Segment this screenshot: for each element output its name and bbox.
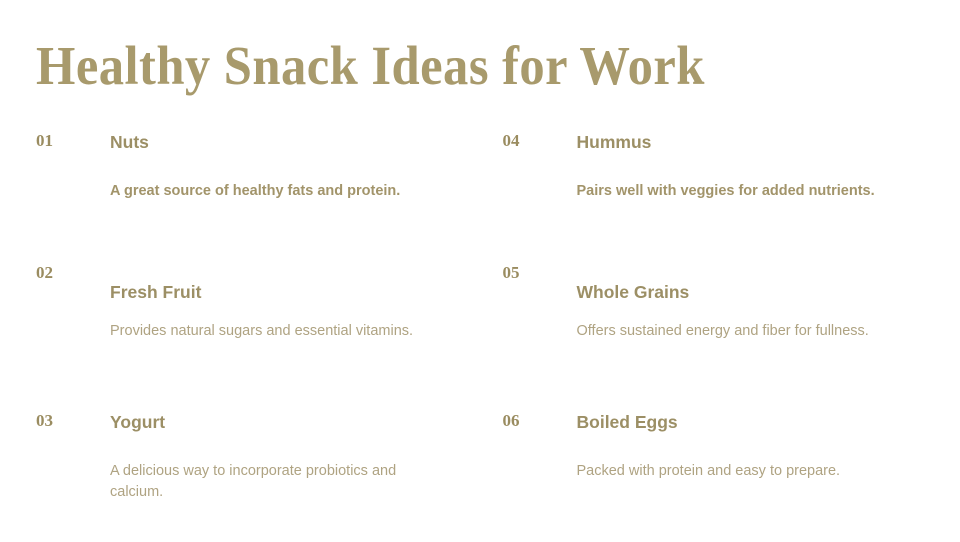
list-item-description: Provides natural sugars and essential vi…	[110, 303, 450, 342]
list-item[interactable]: 05 Whole Grains Offers sustained energy …	[503, 262, 960, 402]
list-item-number: 01	[36, 131, 102, 151]
list-column-left: 03 Yogurt A delicious way to incorporate…	[0, 402, 494, 542]
list-item-description: Pairs well with veggies for added nutrie…	[577, 153, 917, 202]
list-item-number: 04	[503, 131, 569, 151]
list-item-number: 02	[36, 263, 102, 283]
list-item-body: Yogurt A delicious way to incorporate pr…	[110, 402, 470, 503]
list-item-body: Nuts A great source of healthy fats and …	[110, 122, 470, 202]
list-column-left: 01 Nuts A great source of healthy fats a…	[0, 122, 494, 262]
list-item-body: Fresh Fruit Provides natural sugars and …	[110, 262, 470, 342]
list-item-description: Offers sustained energy and fiber for fu…	[577, 303, 917, 342]
list-item-body: Whole Grains Offers sustained energy and…	[577, 262, 937, 342]
page-title: Healthy Snack Ideas for Work	[36, 33, 705, 99]
list-item[interactable]: 04 Hummus Pairs well with veggies for ad…	[503, 122, 960, 262]
list-item-body: Hummus Pairs well with veggies for added…	[577, 122, 937, 202]
list-item[interactable]: 03 Yogurt A delicious way to incorporate…	[36, 402, 494, 542]
list-row: 01 Nuts A great source of healthy fats a…	[0, 122, 960, 262]
list-item-number: 05	[503, 263, 569, 283]
list-column-right: 06 Boiled Eggs Packed with protein and e…	[494, 402, 960, 542]
list-item-heading: Yogurt	[110, 402, 470, 433]
list-item-body: Boiled Eggs Packed with protein and easy…	[577, 402, 937, 482]
list-column-left: 02 Fresh Fruit Provides natural sugars a…	[0, 262, 494, 402]
list-column-right: 05 Whole Grains Offers sustained energy …	[494, 262, 960, 402]
list-item-description: A great source of healthy fats and prote…	[110, 153, 450, 202]
snack-ideas-list: 01 Nuts A great source of healthy fats a…	[0, 122, 960, 542]
list-item[interactable]: 01 Nuts A great source of healthy fats a…	[36, 122, 494, 262]
list-item-heading: Whole Grains	[577, 262, 937, 303]
list-item-description: Packed with protein and easy to prepare.	[577, 433, 917, 482]
list-item-heading: Fresh Fruit	[110, 262, 470, 303]
slide-canvas: Healthy Snack Ideas for Work 01 Nuts A g…	[0, 0, 960, 540]
list-row: 03 Yogurt A delicious way to incorporate…	[0, 402, 960, 542]
list-item-number: 06	[503, 411, 569, 431]
list-item-heading: Hummus	[577, 122, 937, 153]
list-row: 02 Fresh Fruit Provides natural sugars a…	[0, 262, 960, 402]
list-item-heading: Nuts	[110, 122, 470, 153]
list-item[interactable]: 06 Boiled Eggs Packed with protein and e…	[503, 402, 960, 542]
list-item[interactable]: 02 Fresh Fruit Provides natural sugars a…	[36, 262, 494, 402]
list-item-number: 03	[36, 411, 102, 431]
list-item-description: A delicious way to incorporate probiotic…	[110, 433, 450, 503]
list-item-heading: Boiled Eggs	[577, 402, 937, 433]
list-column-right: 04 Hummus Pairs well with veggies for ad…	[494, 122, 960, 262]
